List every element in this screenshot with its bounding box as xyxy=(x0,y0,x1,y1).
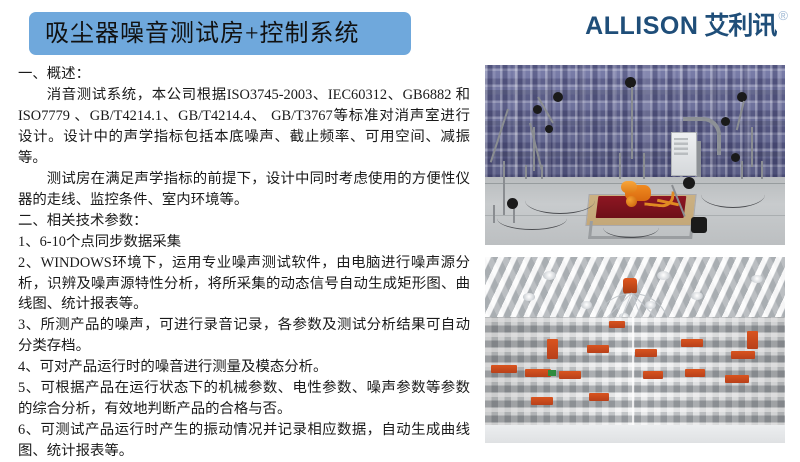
microphone-tripod-legs xyxy=(525,165,543,179)
orange-wedge-accent xyxy=(685,369,705,377)
overview-paragraph-1: 消音测试系统，本公司根据ISO3745-2003、IEC60312、GB6882… xyxy=(18,85,470,169)
orange-wedge-accent xyxy=(491,365,517,373)
microphone-capsule-icon xyxy=(545,125,553,133)
microphone-capsule-icon xyxy=(533,105,542,114)
ceiling-light xyxy=(691,292,703,300)
parameter-item-3: 3、所测产品的噪声，可进行录音记录，各参数及测试分析结果可自动分类存档。 xyxy=(18,315,470,357)
exhaust-duct-leg xyxy=(697,141,701,177)
cable xyxy=(701,181,765,208)
orange-wedge-accent xyxy=(643,371,663,379)
logo-text-en: ALLISON xyxy=(585,14,698,39)
page-title: 吸尘器噪音测试房+控制系统 xyxy=(45,22,360,46)
parameter-item-2: 2、WINDOWS环境下，运用专业噪声测试软件，由电脑进行噪声源分析，识辨及噪声… xyxy=(18,253,470,316)
microphone-capsule-icon xyxy=(553,92,563,102)
overview-paragraph-2: 测试房在满足声学指标的前提下，设计中同时考虑使用的方便性仪器的走线、监控条件、室… xyxy=(18,169,470,211)
vacuum-cleaner-head xyxy=(621,181,637,193)
orange-wedge-accent xyxy=(681,339,703,347)
cabinet-grill xyxy=(674,138,688,155)
orange-wedge-accent xyxy=(559,371,581,379)
photo-anechoic-chamber-interior xyxy=(485,257,785,443)
orange-wedge-accent xyxy=(635,349,657,357)
parameter-item-4: 4、可对产品运行时的噪音进行测量及模态分析。 xyxy=(18,357,470,378)
section-heading-overview: 一、概述： xyxy=(18,64,470,85)
microphone-capsule-icon xyxy=(731,153,740,162)
sound-source-speaker xyxy=(623,278,637,294)
ceiling-light xyxy=(581,301,592,309)
photo-column xyxy=(485,65,785,443)
microphone-tripod-legs xyxy=(619,153,645,179)
microphone-stand-pole xyxy=(631,87,633,159)
ceiling-light xyxy=(523,293,535,301)
wall-corner-edge xyxy=(632,317,634,429)
page-header: 吸尘器噪音测试房+控制系统 ALLISON 艾利讯 ® xyxy=(0,0,800,62)
orange-wedge-accent xyxy=(531,397,553,405)
cable xyxy=(603,217,659,238)
parameter-item-5: 5、可根据产品在运行状态下的机械参数、电性参数、噪声参数等参数的综合分析，有效地… xyxy=(18,378,470,420)
photo-anechoic-chamber-vacuum-test xyxy=(485,65,785,245)
ceiling-light xyxy=(751,275,763,283)
company-logo: ALLISON 艾利讯 ® xyxy=(585,14,788,39)
ceiling-light xyxy=(657,271,670,280)
registered-trademark-icon: ® xyxy=(778,9,788,22)
microphone-capsule-icon xyxy=(683,177,695,189)
logo-text-cn: 艾利讯 xyxy=(704,14,776,39)
microphone-tripod-legs xyxy=(741,161,763,179)
emergency-exit-sign xyxy=(548,370,556,376)
microphone-preamp-box xyxy=(691,217,707,233)
ceiling-light xyxy=(543,271,556,280)
orange-wedge-accent xyxy=(587,345,609,353)
orange-wedge-accent xyxy=(547,339,558,359)
orange-wedge-accent xyxy=(725,375,749,383)
title-banner: 吸尘器噪音测试房+控制系统 xyxy=(29,12,411,55)
microphone-capsule-icon xyxy=(721,117,730,126)
chamber-floor xyxy=(485,425,785,443)
parameter-item-1: 1、6-10个点同步数据采集 xyxy=(18,232,470,253)
cable xyxy=(525,187,595,214)
content-text-column: 一、概述： 消音测试系统，本公司根据ISO3745-2003、IEC60312、… xyxy=(18,64,470,444)
vacuum-cleaner-wheel xyxy=(626,196,637,207)
parameter-item-6: 6、可测试产品运行时产生的振动情况并记录相应数据，自动生成曲线图、统计报表等。 xyxy=(18,420,470,462)
orange-wedge-accent xyxy=(609,321,625,328)
orange-wedge-accent xyxy=(747,331,758,349)
orange-wedge-accent xyxy=(589,393,609,401)
section-heading-parameters: 二、相关技术参数： xyxy=(18,211,470,232)
orange-wedge-accent xyxy=(731,351,755,359)
